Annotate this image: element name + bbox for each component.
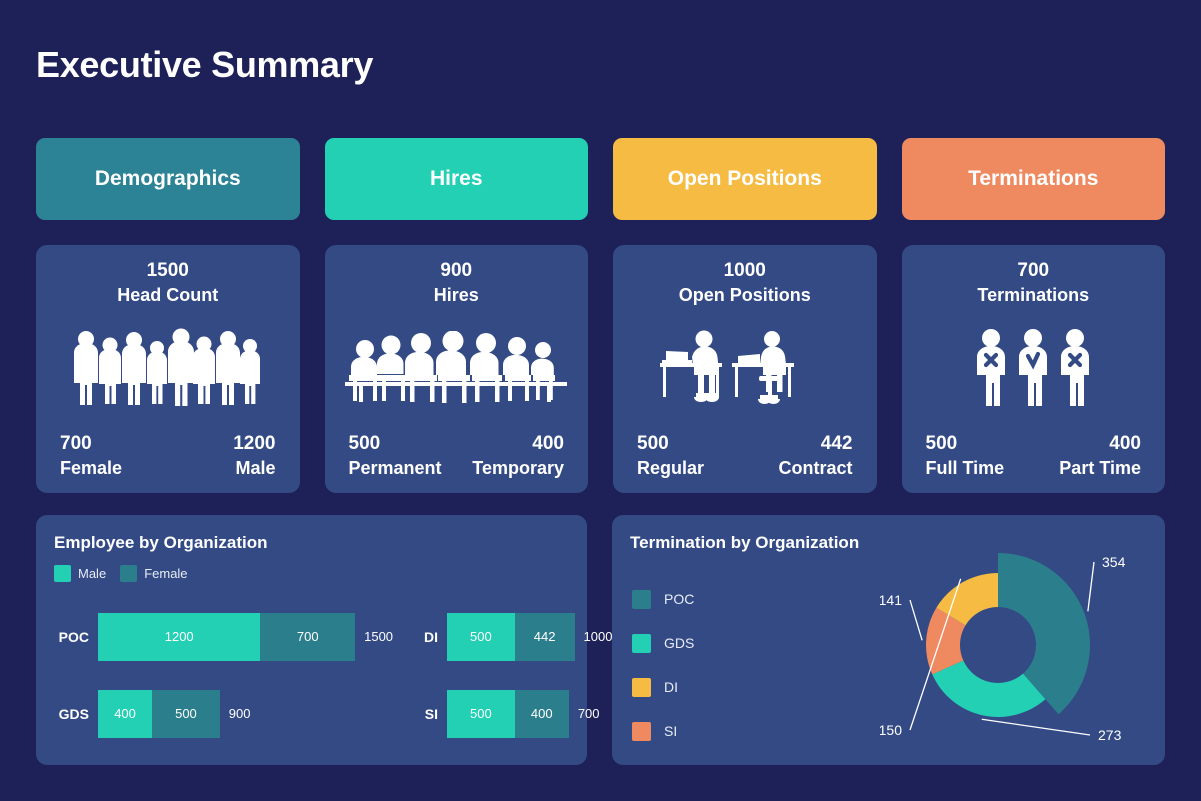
legend-item-gds[interactable]: GDS: [632, 621, 694, 665]
kpi-label: Hires: [434, 284, 479, 307]
bar-row: GDS400500900: [50, 678, 393, 749]
legend-swatch: [632, 722, 651, 741]
tab-label: Demographics: [95, 167, 241, 191]
bar-segment-female[interactable]: 500: [152, 690, 220, 738]
kpi-footer: 500 Full Time 400 Part Time: [918, 432, 1150, 481]
bar-chart-plot: POC12007001500DI5004421000GDS400500900SI…: [50, 601, 573, 749]
bar-total-label: 1000: [575, 629, 613, 644]
bar-row: POC12007001500: [50, 601, 393, 672]
kpi-label: Head Count: [117, 284, 218, 307]
tab-terminations[interactable]: Terminations: [902, 138, 1166, 220]
bar-chart-legend: Male Female: [54, 565, 188, 582]
kpi-footer-right-value: 442: [778, 432, 852, 457]
kpi-footer-right: 400 Temporary: [472, 432, 564, 479]
kpi-value: 900: [440, 259, 472, 284]
donut-chart-legend: POC GDS DI SI: [632, 577, 694, 753]
bar-row: DI5004421000: [399, 601, 612, 672]
bar-segment-male[interactable]: 400: [98, 690, 152, 738]
bar-row: SI500400700: [399, 678, 612, 749]
kpi-footer-right: 1200 Male: [233, 432, 275, 479]
legend-item-female[interactable]: Female: [120, 565, 187, 582]
kpi-footer-left-value: 500: [637, 432, 704, 457]
kpi-footer-left: 500 Permanent: [349, 432, 442, 479]
tab-hires[interactable]: Hires: [325, 138, 589, 220]
desk-interview-icon: [629, 306, 861, 430]
kpi-card-hires[interactable]: 900 Hires: [325, 245, 589, 493]
kpi-label: Open Positions: [679, 284, 811, 307]
legend-swatch: [632, 634, 651, 653]
bar-category-label: SI: [399, 706, 447, 722]
category-tab-bar: Demographics Hires Open Positions Termin…: [36, 138, 1165, 220]
bar-segment-male[interactable]: 1200: [98, 613, 260, 661]
legend-swatch: [632, 590, 651, 609]
donut-value-label: 273: [1098, 727, 1122, 743]
legend-item-poc[interactable]: POC: [632, 577, 694, 621]
kpi-footer: 500 Regular 442 Contract: [629, 432, 861, 481]
bar-segment-male[interactable]: 500: [447, 690, 515, 738]
kpi-footer-left-label: Regular: [637, 457, 704, 480]
legend-label: DI: [664, 679, 678, 695]
bar-total-label: 900: [220, 706, 251, 721]
legend-swatch: [632, 678, 651, 697]
kpi-footer-right-value: 400: [472, 432, 564, 457]
kpi-footer-right-label: Male: [233, 457, 275, 480]
kpi-footer-right-value: 400: [1059, 432, 1141, 457]
tab-label: Hires: [430, 167, 483, 191]
bar-track: 500442: [447, 613, 574, 661]
kpi-footer-right: 442 Contract: [778, 432, 852, 479]
kpi-footer-left: 700 Female: [60, 432, 122, 479]
donut-value-label: 141: [880, 592, 902, 608]
legend-swatch: [120, 565, 137, 582]
kpi-footer-left-value: 700: [60, 432, 122, 457]
bar-category-label: POC: [50, 629, 98, 645]
meeting-table-icon: [341, 306, 573, 430]
three-people-badges-icon: [918, 306, 1150, 430]
page-title: Executive Summary: [36, 44, 373, 86]
kpi-card-open-positions[interactable]: 1000 Open Positions: [613, 245, 877, 493]
bar-category-label: GDS: [50, 706, 98, 722]
donut-leader-line: [910, 600, 922, 640]
kpi-footer-right-label: Contract: [778, 457, 852, 480]
legend-swatch: [54, 565, 71, 582]
kpi-value: 700: [1017, 259, 1049, 284]
legend-label: Male: [78, 566, 106, 581]
bar-segment-male[interactable]: 500: [447, 613, 515, 661]
termination-by-organization-panel: Termination by Organization POC GDS DI S…: [612, 515, 1165, 765]
kpi-footer: 500 Permanent 400 Temporary: [341, 432, 573, 481]
kpi-footer-left-label: Female: [60, 457, 122, 480]
bar-category-label: DI: [399, 629, 447, 645]
legend-item-male[interactable]: Male: [54, 565, 106, 582]
panel-title: Employee by Organization: [54, 533, 268, 553]
legend-label: GDS: [664, 635, 694, 651]
bar-track: 500400: [447, 690, 569, 738]
tab-open-positions[interactable]: Open Positions: [613, 138, 877, 220]
bar-total-label: 1500: [355, 629, 393, 644]
tab-demographics[interactable]: Demographics: [36, 138, 300, 220]
crowd-icon: [52, 306, 284, 430]
legend-item-si[interactable]: SI: [632, 709, 694, 753]
bar-total-label: 700: [569, 706, 600, 721]
kpi-card-row: 1500 Head Count: [36, 245, 1165, 493]
legend-label: POC: [664, 591, 694, 607]
donut-value-label: 150: [880, 722, 902, 738]
panel-title: Termination by Organization: [630, 533, 859, 553]
tab-label: Open Positions: [668, 167, 822, 191]
kpi-footer-right-label: Part Time: [1059, 457, 1141, 480]
donut-leader-line: [982, 719, 1090, 735]
kpi-footer-left: 500 Full Time: [926, 432, 1005, 479]
kpi-footer-right-label: Temporary: [472, 457, 564, 480]
donut-chart-plot: 354273141150: [880, 525, 1165, 765]
bar-segment-female[interactable]: 442: [515, 613, 575, 661]
bar-segment-female[interactable]: 400: [515, 690, 569, 738]
donut-value-label: 354: [1102, 554, 1126, 570]
legend-label: SI: [664, 723, 677, 739]
kpi-footer-left-label: Full Time: [926, 457, 1005, 480]
donut-leader-line: [1088, 562, 1094, 611]
kpi-footer-left-label: Permanent: [349, 457, 442, 480]
tab-label: Terminations: [968, 167, 1098, 191]
bar-track: 1200700: [98, 613, 355, 661]
kpi-footer-right: 400 Part Time: [1059, 432, 1141, 479]
kpi-label: Terminations: [977, 284, 1089, 307]
kpi-footer-left-value: 500: [349, 432, 442, 457]
legend-item-di[interactable]: DI: [632, 665, 694, 709]
kpi-card-terminations[interactable]: 700 Terminations: [902, 245, 1166, 493]
kpi-footer: 700 Female 1200 Male: [52, 432, 284, 481]
kpi-footer-right-value: 1200: [233, 432, 275, 457]
dashboard-page: Executive Summary Demographics Hires Ope…: [0, 0, 1201, 801]
bar-segment-female[interactable]: 700: [260, 613, 355, 661]
bar-track: 400500: [98, 690, 220, 738]
kpi-footer-left-value: 500: [926, 432, 1005, 457]
legend-label: Female: [144, 566, 187, 581]
kpi-card-head-count[interactable]: 1500 Head Count: [36, 245, 300, 493]
kpi-value: 1500: [147, 259, 189, 284]
employee-by-organization-panel: Employee by Organization Male Female POC…: [36, 515, 587, 765]
kpi-value: 1000: [724, 259, 766, 284]
kpi-footer-left: 500 Regular: [637, 432, 704, 479]
